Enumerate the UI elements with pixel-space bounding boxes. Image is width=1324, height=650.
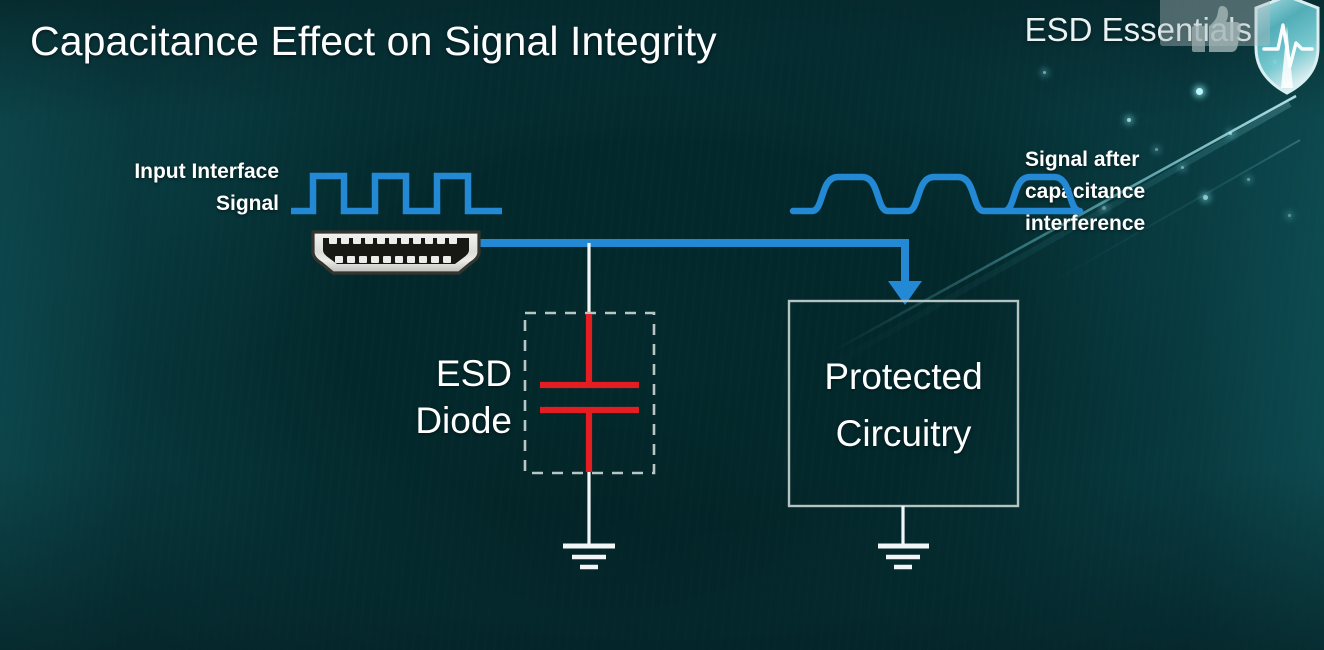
capacitor-symbol [540,314,639,472]
ground-symbol-left [563,546,615,567]
input-waveform-square [291,176,502,211]
output-waveform-filtered [793,177,1080,211]
protected-circuitry-box [789,301,1018,506]
signal-trace [478,243,922,305]
hdmi-connector [308,228,484,278]
ground-symbol-right [878,546,929,567]
slide-canvas: Capacitance Effect on Signal Integrity E… [0,0,1324,650]
circuit-diagram [0,0,1324,650]
